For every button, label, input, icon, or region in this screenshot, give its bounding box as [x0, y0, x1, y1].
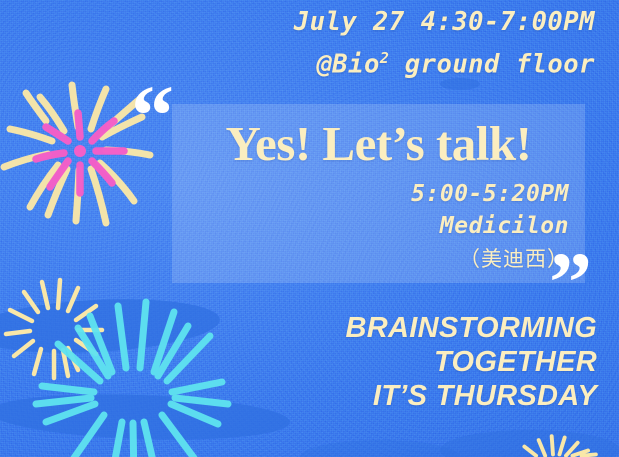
event-header: July 27 4:30-7:00PM @Bio2 ground floor	[0, 4, 595, 83]
headline-text: Yes! Let’s talk!	[172, 116, 585, 172]
tagline-line-2: TOGETHER	[0, 345, 597, 379]
quote-open-mark: “	[131, 72, 172, 158]
session-company-chinese: （美迪西）	[172, 242, 569, 276]
tagline-line-3: IT’S THURSDAY	[0, 379, 597, 413]
poster-canvas: July 27 4:30-7:00PM @Bio2 ground floor “…	[0, 0, 619, 457]
session-company: Medicilon	[172, 210, 569, 242]
tagline-line-1: BRAINSTORMING	[0, 311, 597, 345]
event-datetime: July 27 4:30-7:00PM	[0, 4, 595, 40]
event-location-superscript: 2	[380, 49, 389, 67]
session-details: 5:00-5:20PM Medicilon （美迪西）	[172, 178, 569, 276]
event-location-prefix: @Bio	[316, 50, 379, 80]
event-location-suffix: ground floor	[389, 50, 595, 80]
event-location: @Bio2 ground floor	[0, 40, 595, 83]
tagline-block: BRAINSTORMING TOGETHER IT’S THURSDAY	[0, 311, 597, 413]
session-time: 5:00-5:20PM	[172, 178, 569, 210]
